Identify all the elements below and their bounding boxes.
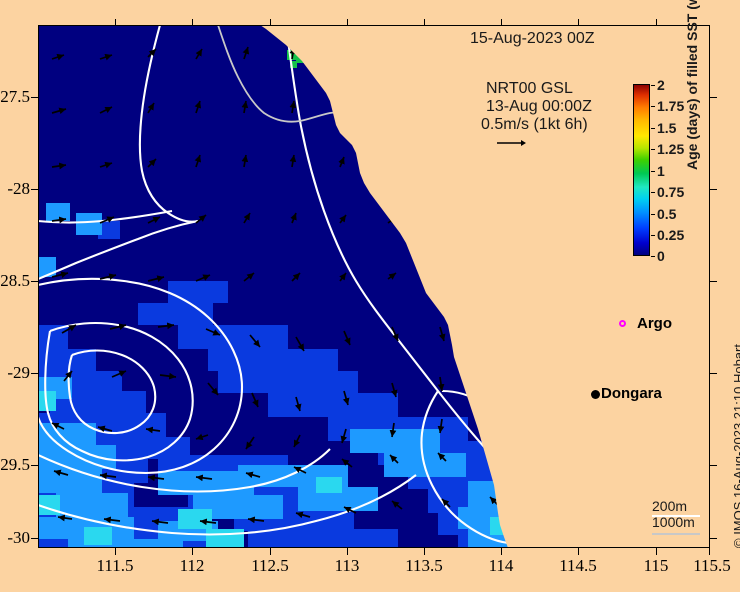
map-plot-area[interactable] <box>38 25 710 548</box>
product-label: NRT00 GSL <box>486 80 573 98</box>
colorbar-tick-label: 0.75 <box>657 184 684 200</box>
y-tick-label: -27.5 <box>0 87 30 107</box>
land-mass-coastline <box>38 25 710 548</box>
x-tick-label: 112.5 <box>251 556 289 576</box>
depth-contour-legend: 200m 1000m <box>652 498 695 530</box>
colorbar-axis-label: Age (days) of filled SST (wrt latest) <box>684 0 700 170</box>
y-tick-label: -28 <box>0 179 30 199</box>
colorbar-tick-label: 0.25 <box>657 227 684 243</box>
depth-200m-label: 200m <box>652 498 695 514</box>
depth-1000m-line <box>652 533 700 535</box>
x-tick-label: 115 <box>644 556 669 576</box>
y-tick-label: -30 <box>0 528 30 548</box>
copyright-credit: © IMOS 16-Aug-2023 21:10 Hobart <box>731 344 740 548</box>
dongara-label: Dongara <box>601 385 662 402</box>
colorbar-tick-label: 1 <box>657 163 665 179</box>
arrow-right-icon <box>497 139 527 147</box>
colorbar-gradient[interactable] <box>633 84 650 256</box>
map-date-title: 15-Aug-2023 00Z <box>470 30 595 48</box>
x-tick-label: 115.5 <box>693 556 731 576</box>
y-tick-label: -29.5 <box>0 455 30 475</box>
x-tick-label: 114 <box>489 556 514 576</box>
colorbar-tick-label: 0.5 <box>657 206 676 222</box>
x-tick-label: 113.5 <box>405 556 443 576</box>
colorbar-tick-label: 1.5 <box>657 120 676 136</box>
dongara-city-marker[interactable] <box>591 390 600 399</box>
y-tick-label: -29 <box>0 363 30 383</box>
x-tick-label: 114.5 <box>559 556 597 576</box>
argo-float-marker[interactable] <box>619 320 626 327</box>
colorbar-tick-label: 2 <box>657 77 665 93</box>
x-tick-label: 112 <box>180 556 205 576</box>
vector-scale-label: 0.5m/s (1kt 6h) <box>481 116 588 134</box>
x-tick-label: 111.5 <box>97 556 134 576</box>
y-tick-label: -28.5 <box>0 271 30 291</box>
argo-label: Argo <box>637 315 672 332</box>
colorbar-tick-label: 1.25 <box>657 141 684 157</box>
figure-canvas: 111.5 112 112.5 113 113.5 114 114.5 115 … <box>0 0 740 592</box>
valid-time-label: 13-Aug 00:00Z <box>486 98 592 116</box>
colorbar-tick-label: 0 <box>657 248 665 264</box>
depth-200m-line <box>652 515 700 517</box>
x-tick-label: 113 <box>335 556 360 576</box>
colorbar-tick-label: 1.75 <box>657 98 684 114</box>
